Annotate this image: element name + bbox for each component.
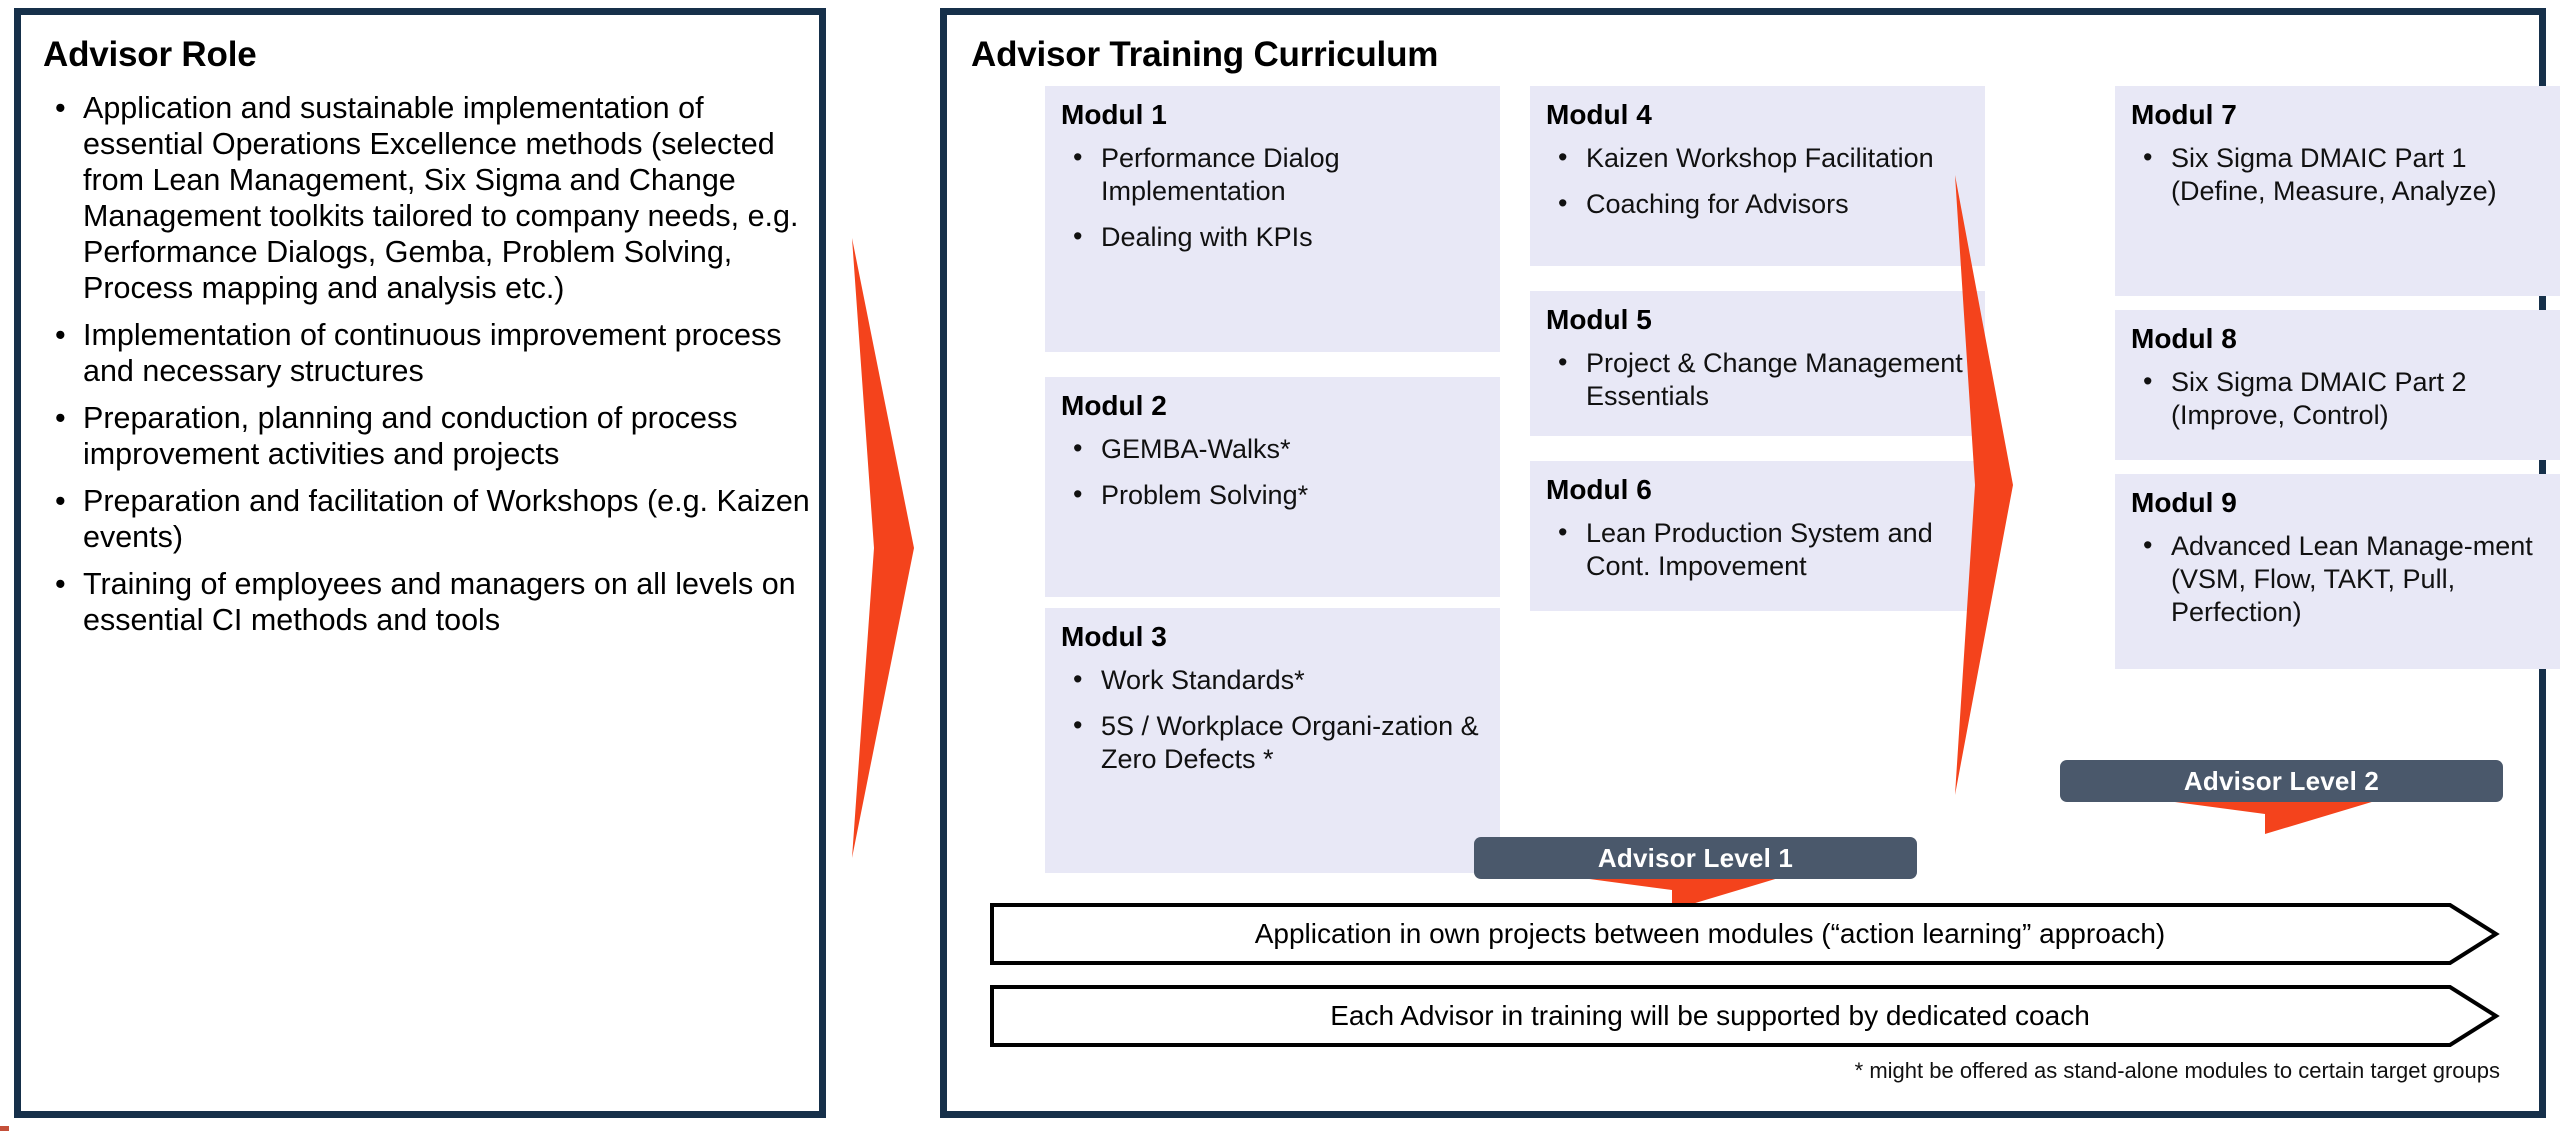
module-title: Modul 4 — [1546, 100, 1969, 131]
list-item: •Project & Change Management Essentials — [1546, 347, 1969, 413]
list-item: •Advanced Lean Manage-ment (VSM, Flow, T… — [2131, 530, 2560, 629]
advisor-role-bullet-list: •Application and sustainable implementat… — [31, 91, 811, 650]
list-item: •Work Standards* — [1061, 664, 1484, 697]
bullet-icon: • — [55, 91, 66, 127]
module-title: Modul 1 — [1061, 100, 1484, 131]
module-title: Modul 5 — [1546, 305, 1969, 336]
list-item-text: Preparation and facilitation of Workshop… — [83, 484, 810, 554]
list-item: •Problem Solving* — [1061, 479, 1484, 512]
curriculum-title: Advisor Training Curriculum — [971, 35, 1438, 75]
module-card-modul-8[interactable]: Modul 8 •Six Sigma DMAIC Part 2 (Improve… — [2115, 310, 2560, 460]
list-item-text: Coaching for Advisors — [1586, 189, 1849, 219]
list-item-text: Kaizen Workshop Facilitation — [1586, 143, 1934, 173]
module-column-3: Modul 7 •Six Sigma DMAIC Part 1 (Define,… — [2115, 86, 2560, 669]
list-item-text: Application and sustainable implementati… — [83, 91, 798, 305]
red-arrow-right-icon-1 — [852, 238, 914, 858]
list-item-text: Dealing with KPIs — [1101, 222, 1313, 252]
module-column-2: Modul 4 •Kaizen Workshop Facilitation •C… — [1530, 86, 1985, 611]
list-item: •Lean Production System and Cont. Impove… — [1546, 517, 1969, 583]
bullet-icon: • — [1558, 346, 1567, 379]
bullet-icon: • — [1073, 478, 1082, 511]
module-item-list: •Kaizen Workshop Facilitation •Coaching … — [1546, 142, 1969, 221]
bullet-icon: • — [1073, 220, 1082, 253]
list-item: •Six Sigma DMAIC Part 2 (Improve, Contro… — [2131, 366, 2560, 432]
list-item-text: Preparation, planning and conduction of … — [83, 401, 738, 471]
module-card-modul-6[interactable]: Modul 6 •Lean Production System and Cont… — [1530, 461, 1985, 611]
spacer — [1045, 352, 1500, 377]
list-item-text: 5S / Workplace Organi-zation & Zero Defe… — [1101, 711, 1479, 774]
bullet-icon: • — [2143, 141, 2152, 174]
banner-arrow-action-learning: Application in own projects between modu… — [990, 903, 2500, 965]
module-card-modul-9[interactable]: Modul 9 •Advanced Lean Manage-ment (VSM,… — [2115, 474, 2560, 669]
list-item: •Kaizen Workshop Facilitation — [1546, 142, 1969, 175]
bullet-icon: • — [55, 567, 66, 603]
status-badge-advisor-level-1: Advisor Level 1 — [1474, 837, 1917, 879]
list-item-text: Six Sigma DMAIC Part 2 (Improve, Control… — [2171, 367, 2467, 430]
bullet-icon: • — [2143, 529, 2152, 562]
list-item-text: Six Sigma DMAIC Part 1 (Define, Measure,… — [2171, 143, 2497, 206]
list-item-text: Lean Production System and Cont. Impovem… — [1586, 518, 1933, 581]
list-item-text: Advanced Lean Manage-ment (VSM, Flow, TA… — [2171, 531, 2533, 627]
module-title: Modul 2 — [1061, 391, 1484, 422]
bullet-icon: • — [55, 318, 66, 354]
module-item-list: •Six Sigma DMAIC Part 2 (Improve, Contro… — [2131, 366, 2560, 432]
module-card-modul-5[interactable]: Modul 5 •Project & Change Management Ess… — [1530, 291, 1985, 436]
spacer — [2115, 296, 2560, 310]
bullet-icon: • — [1073, 432, 1082, 465]
red-arrow-right-icon-2 — [1955, 175, 2013, 795]
footnote-text: * might be offered as stand-alone module… — [990, 1058, 2500, 1084]
red-arrow-down-icon-2 — [2145, 798, 2385, 834]
list-item: •Six Sigma DMAIC Part 1 (Define, Measure… — [2131, 142, 2560, 208]
module-card-modul-1[interactable]: Modul 1 •Performance Dialog Implementati… — [1045, 86, 1500, 352]
module-item-list: •Project & Change Management Essentials — [1546, 347, 1969, 413]
bullet-icon: • — [55, 401, 66, 437]
list-item: •Preparation and facilitation of Worksho… — [31, 484, 811, 556]
bullet-icon: • — [1558, 141, 1567, 174]
spacer — [1530, 266, 1985, 291]
module-title: Modul 9 — [2131, 488, 2560, 519]
bullet-icon: • — [1558, 516, 1567, 549]
module-card-modul-4[interactable]: Modul 4 •Kaizen Workshop Facilitation •C… — [1530, 86, 1985, 266]
advisor-role-panel: Advisor Role •Application and sustainabl… — [14, 8, 826, 1118]
list-item: •Training of employees and managers on a… — [31, 567, 811, 639]
module-title: Modul 7 — [2131, 100, 2560, 131]
module-item-list: •Work Standards* •5S / Workplace Organi-… — [1061, 664, 1484, 776]
list-item-text: Implementation of continuous improvement… — [83, 318, 781, 388]
advisor-role-title: Advisor Role — [43, 35, 256, 75]
list-item: •GEMBA-Walks* — [1061, 433, 1484, 466]
spacer — [2115, 460, 2560, 474]
banner-text: Application in own projects between modu… — [990, 903, 2430, 965]
list-item: •Preparation, planning and conduction of… — [31, 401, 811, 473]
list-item-text: Training of employees and managers on al… — [83, 567, 796, 637]
module-card-modul-7[interactable]: Modul 7 •Six Sigma DMAIC Part 1 (Define,… — [2115, 86, 2560, 296]
module-item-list: •Six Sigma DMAIC Part 1 (Define, Measure… — [2131, 142, 2560, 208]
list-item: •Coaching for Advisors — [1546, 188, 1969, 221]
module-title: Modul 6 — [1546, 475, 1969, 506]
list-item: •Application and sustainable implementat… — [31, 91, 811, 307]
list-item-text: Project & Change Management Essentials — [1586, 348, 1963, 411]
bullet-icon: • — [1073, 709, 1082, 742]
list-item-text: GEMBA-Walks* — [1101, 434, 1291, 464]
list-item: •5S / Workplace Organi-zation & Zero Def… — [1061, 710, 1484, 776]
corner-artifact — [0, 1126, 9, 1131]
module-card-modul-2[interactable]: Modul 2 •GEMBA-Walks* •Problem Solving* — [1045, 377, 1500, 597]
banner-text: Each Advisor in training will be support… — [990, 985, 2430, 1047]
spacer — [1530, 436, 1985, 461]
list-item-text: Performance Dialog Implementation — [1101, 143, 1340, 206]
list-item: •Performance Dialog Implementation — [1061, 142, 1484, 208]
status-badge-advisor-level-2: Advisor Level 2 — [2060, 760, 2503, 802]
list-item: •Dealing with KPIs — [1061, 221, 1484, 254]
bullet-icon: • — [2143, 365, 2152, 398]
list-item: •Implementation of continuous improvemen… — [31, 318, 811, 390]
module-card-modul-3[interactable]: Modul 3 •Work Standards* •5S / Workplace… — [1045, 608, 1500, 873]
bullet-icon: • — [1073, 141, 1082, 174]
module-column-1: Modul 1 •Performance Dialog Implementati… — [1045, 86, 1500, 873]
module-title: Modul 8 — [2131, 324, 2560, 355]
bullet-icon: • — [1073, 663, 1082, 696]
bullet-icon: • — [55, 484, 66, 520]
banner-arrow-dedicated-coach: Each Advisor in training will be support… — [990, 985, 2500, 1047]
module-item-list: •Performance Dialog Implementation •Deal… — [1061, 142, 1484, 254]
module-item-list: •Advanced Lean Manage-ment (VSM, Flow, T… — [2131, 530, 2560, 629]
spacer — [1045, 597, 1500, 608]
module-title: Modul 3 — [1061, 622, 1484, 653]
bullet-icon: • — [1558, 187, 1567, 220]
module-item-list: •GEMBA-Walks* •Problem Solving* — [1061, 433, 1484, 512]
list-item-text: Work Standards* — [1101, 665, 1305, 695]
list-item-text: Problem Solving* — [1101, 480, 1308, 510]
module-item-list: •Lean Production System and Cont. Impove… — [1546, 517, 1969, 583]
